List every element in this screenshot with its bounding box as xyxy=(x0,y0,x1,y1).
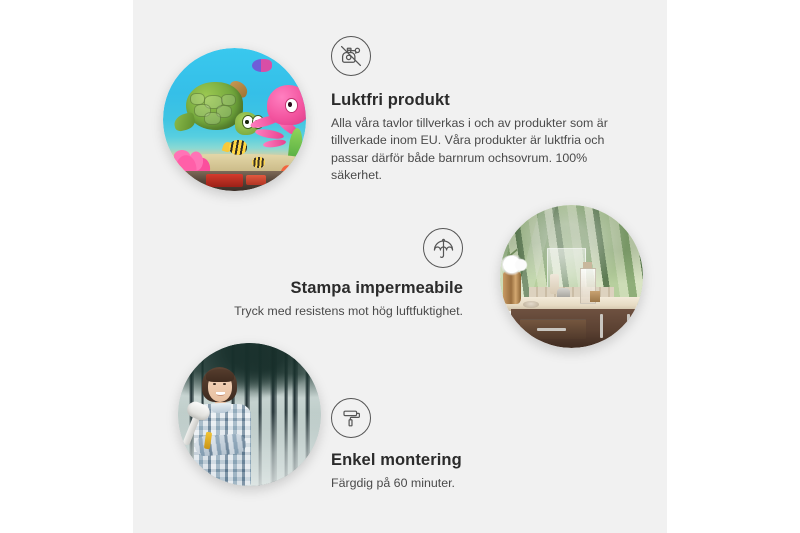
feature-description: Färgdig på 60 minuter. xyxy=(331,475,621,493)
feature-title: Enkel montering xyxy=(331,450,621,471)
paint-roller-icon xyxy=(331,398,371,438)
forest-wallpaper-photo xyxy=(178,343,321,486)
feature-odour-free: Luktfri produkt Alla våra tavlor tillver… xyxy=(331,36,631,185)
product-info-panel: Luktfri produkt Alla våra tavlor tillver… xyxy=(133,0,667,533)
feature-description: Alla våra tavlor tillverkas i och av pro… xyxy=(331,115,631,185)
icon-wrap-waterproof xyxy=(155,228,463,268)
icon-wrap-mounting xyxy=(331,398,621,438)
feature-title: Stampa impermeabile xyxy=(155,278,463,299)
umbrella-icon xyxy=(423,228,463,268)
no-fragrance-icon xyxy=(331,36,371,76)
bathroom-wallpaper-photo xyxy=(500,205,643,348)
feature-description: Tryck med resistens mot hög luftfuktighe… xyxy=(155,303,463,321)
feature-waterproof-print: Stampa impermeabile Tryck med resistens … xyxy=(155,228,463,320)
underwater-cartoon-photo xyxy=(163,48,306,191)
icon-wrap-odour xyxy=(331,36,631,76)
feature-title: Luktfri produkt xyxy=(331,90,631,111)
feature-easy-mounting: Enkel montering Färgdig på 60 minuter. xyxy=(331,398,621,492)
screenshot-stage: Luktfri produkt Alla våra tavlor tillver… xyxy=(0,0,800,533)
